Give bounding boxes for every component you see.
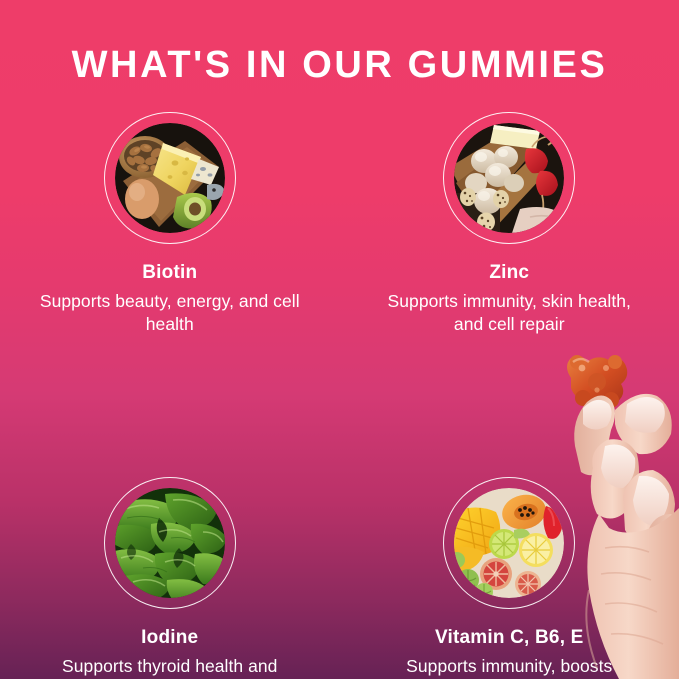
zinc-food-image xyxy=(454,123,564,233)
nutrient-name-biotin: Biotin xyxy=(142,263,197,284)
nutrient-ring-vitamins xyxy=(443,477,575,609)
nutrient-name-vitamins: Vitamin C, B6, E xyxy=(435,628,584,649)
nutrient-desc-biotin: Supports beauty, energy, and cell health xyxy=(39,290,301,337)
nutrient-row-1: Biotin Supports beauty, energy, and cell… xyxy=(0,112,679,337)
nutrient-card-iodine: Iodine Supports thyroid health and energ… xyxy=(0,477,340,679)
nutrient-desc-vitamins: Supports immunity, boosts energy, and pr… xyxy=(378,655,640,679)
nutrient-ring-iodine xyxy=(104,477,236,609)
nutrient-card-zinc: Zinc Supports immunity, skin health, and… xyxy=(340,112,679,337)
nutrient-grid: Biotin Supports beauty, energy, and cell… xyxy=(0,112,679,679)
nutrient-name-zinc: Zinc xyxy=(489,263,529,284)
nutrient-name-iodine: Iodine xyxy=(141,628,198,649)
page-title: WHAT'S IN OUR GUMMIES xyxy=(0,46,679,86)
iodine-food-image xyxy=(115,488,225,598)
biotin-food-image xyxy=(115,123,225,233)
gummies-infographic: WHAT'S IN OUR GUMMIES xyxy=(0,0,679,679)
nutrient-desc-zinc: Supports immunity, skin health, and cell… xyxy=(378,290,640,337)
nutrient-ring-biotin xyxy=(104,112,236,244)
nutrient-ring-zinc xyxy=(443,112,575,244)
nutrient-card-vitamins: Vitamin C, B6, E Supports immunity, boos… xyxy=(340,477,679,679)
nutrient-card-biotin: Biotin Supports beauty, energy, and cell… xyxy=(0,112,340,337)
nutrient-desc-iodine: Supports thyroid health and energy balan… xyxy=(39,655,301,679)
vitamins-food-image xyxy=(454,488,564,598)
nutrient-row-2: Iodine Supports thyroid health and energ… xyxy=(0,477,679,679)
